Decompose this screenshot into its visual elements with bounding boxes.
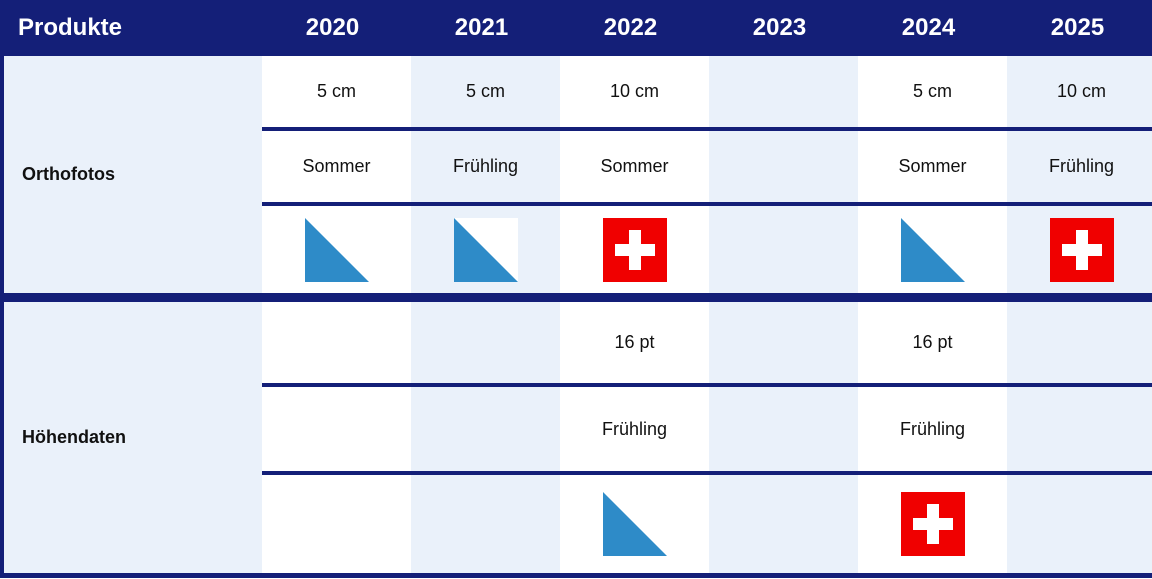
table-header-row: Produkte 2020 2021 2022 2023 2024 2025 <box>0 0 1152 56</box>
hoehe-2020-resolution <box>262 302 411 387</box>
ortho-2025-resolution: 10 cm <box>1007 56 1152 131</box>
hoehe-2020-coverage <box>262 475 411 573</box>
hoehe-2021-season <box>411 387 560 475</box>
header-cell-2024: 2024 <box>854 0 1003 56</box>
hoehe-2021-coverage <box>411 475 560 573</box>
ortho-column-2024: 5 cm Sommer <box>858 56 1007 293</box>
ortho-column-2020: 5 cm Sommer <box>262 56 411 293</box>
hoehe-2022-coverage <box>560 475 709 573</box>
hoehe-2020-season <box>262 387 411 475</box>
ortho-2021-coverage <box>411 206 560 293</box>
header-cell-2025: 2025 <box>1003 0 1152 56</box>
hoehe-column-2023 <box>709 302 858 573</box>
ortho-2023-coverage <box>709 206 858 293</box>
hoehe-2024-resolution: 16 pt <box>858 302 1007 387</box>
swiss-flag-icon <box>1007 206 1152 293</box>
ortho-2025-season: Frühling <box>1007 131 1152 206</box>
hoehe-2024-coverage <box>858 475 1007 573</box>
ortho-2021-resolution: 5 cm <box>411 56 560 131</box>
ortho-2020-season: Sommer <box>262 131 411 206</box>
ortho-column-2025: 10 cm Frühling <box>1007 56 1152 293</box>
half-triangle-boxed-icon <box>411 206 560 293</box>
hoehe-2023-season <box>709 387 858 475</box>
ortho-2024-season: Sommer <box>858 131 1007 206</box>
header-cell-2021: 2021 <box>407 0 556 56</box>
hoehe-column-2021 <box>411 302 560 573</box>
row-group-hoehendaten: Höhendaten 16 pt Frühling <box>0 302 1152 573</box>
ortho-2022-resolution: 10 cm <box>560 56 709 131</box>
swiss-flag-icon <box>560 206 709 293</box>
ortho-2024-resolution: 5 cm <box>858 56 1007 131</box>
swiss-flag-icon <box>858 475 1007 573</box>
table-bottom-border <box>0 573 1152 578</box>
ortho-column-2022: 10 cm Sommer <box>560 56 709 293</box>
hoehe-2021-resolution <box>411 302 560 387</box>
hoehe-column-2025 <box>1007 302 1152 573</box>
hoehe-2022-season: Frühling <box>560 387 709 475</box>
ortho-2020-resolution: 5 cm <box>262 56 411 131</box>
hoehe-2024-season: Frühling <box>858 387 1007 475</box>
ortho-2020-coverage <box>262 206 411 293</box>
header-cell-produkte: Produkte <box>0 0 258 56</box>
hoehe-2023-resolution <box>709 302 858 387</box>
ortho-column-2021: 5 cm Frühling <box>411 56 560 293</box>
ortho-column-2023 <box>709 56 858 293</box>
hoehe-column-2020 <box>262 302 411 573</box>
half-triangle-icon <box>262 206 411 293</box>
hoehe-2025-coverage <box>1007 475 1152 573</box>
hoehe-column-2022: 16 pt Frühling <box>560 302 709 573</box>
ortho-2023-resolution <box>709 56 858 131</box>
hoehe-column-2024: 16 pt Frühling <box>858 302 1007 573</box>
header-cell-2022: 2022 <box>556 0 705 56</box>
ortho-2022-coverage <box>560 206 709 293</box>
group-label-orthofotos: Orthofotos <box>4 56 262 293</box>
ortho-2021-season: Frühling <box>411 131 560 206</box>
hoehe-2025-resolution <box>1007 302 1152 387</box>
group-separator <box>0 293 1152 302</box>
half-triangle-icon <box>560 475 709 573</box>
hoehe-2023-coverage <box>709 475 858 573</box>
ortho-2022-season: Sommer <box>560 131 709 206</box>
ortho-2025-coverage <box>1007 206 1152 293</box>
group-label-hoehendaten: Höhendaten <box>4 302 262 573</box>
products-coverage-table: Produkte 2020 2021 2022 2023 2024 2025 O… <box>0 0 1152 579</box>
ortho-2023-season <box>709 131 858 206</box>
row-group-orthofotos: Orthofotos 5 cm Sommer 5 cm Frühling <box>0 56 1152 293</box>
ortho-2024-coverage <box>858 206 1007 293</box>
header-cell-2020: 2020 <box>258 0 407 56</box>
hoehe-2025-season <box>1007 387 1152 475</box>
hoehe-2022-resolution: 16 pt <box>560 302 709 387</box>
header-cell-2023: 2023 <box>705 0 854 56</box>
half-triangle-icon <box>858 206 1007 293</box>
